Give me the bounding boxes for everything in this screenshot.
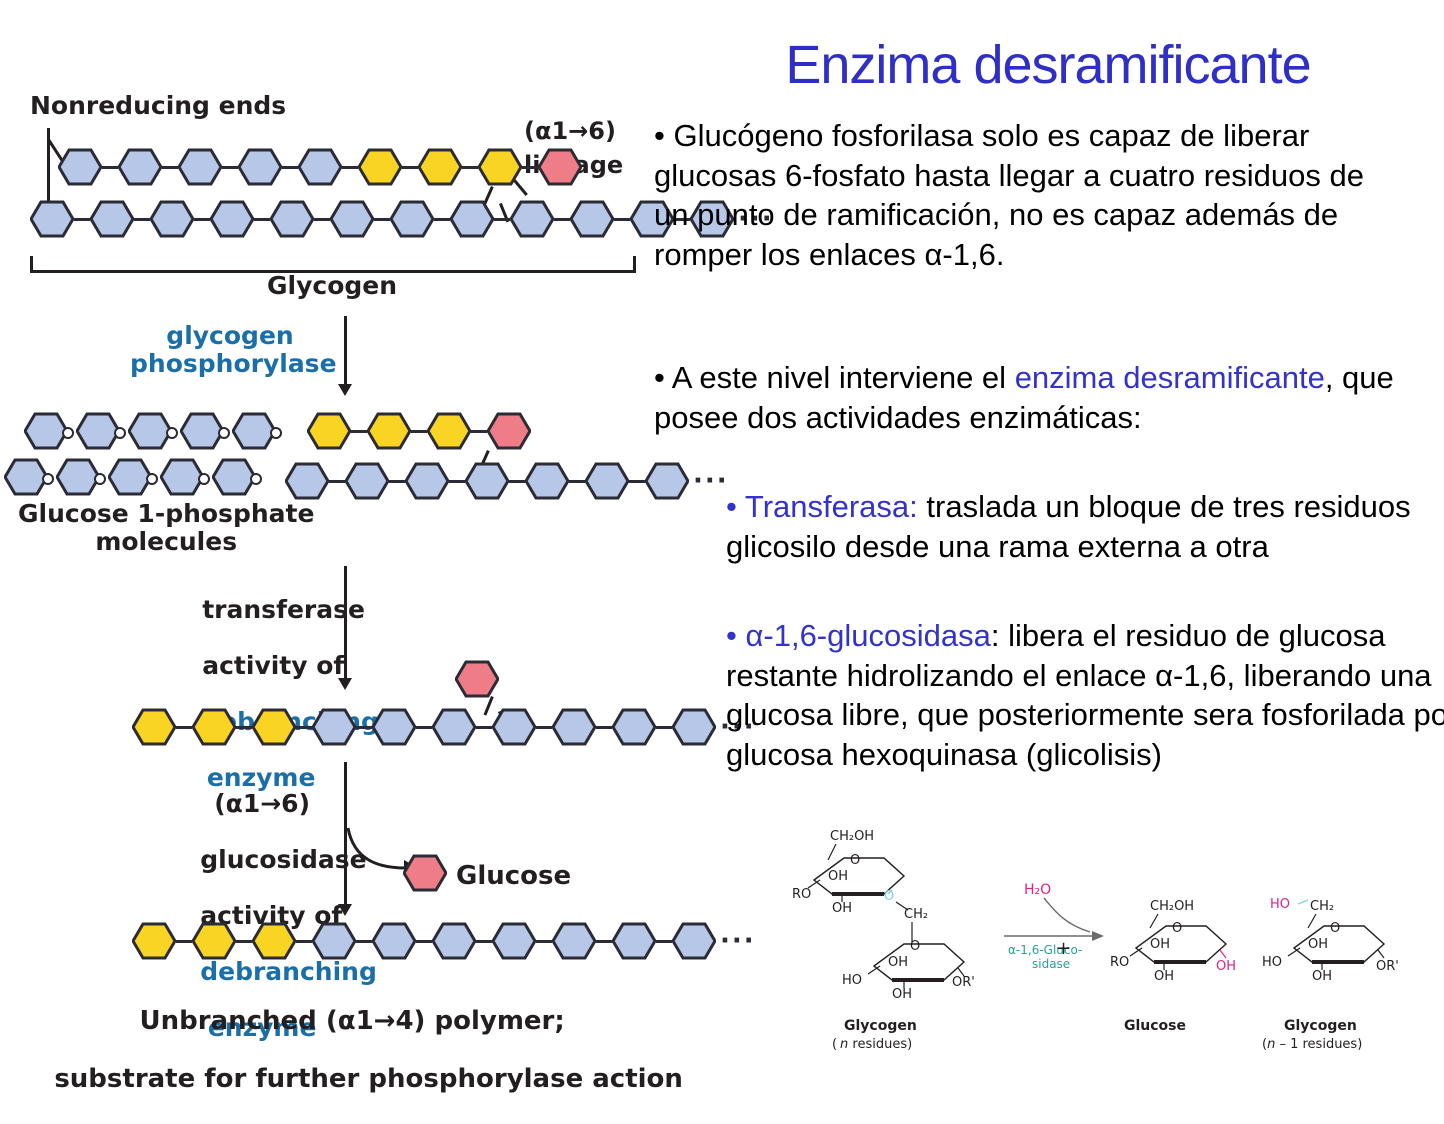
svg-text:O: O — [884, 889, 894, 904]
bond — [476, 940, 492, 943]
bond — [351, 430, 367, 433]
glucose-1-phosphate-unit — [76, 412, 128, 450]
hexagon-yellow — [132, 922, 176, 960]
bond — [596, 726, 612, 729]
glycogen-upper-ring: CH₂OH O OH RO OH O — [792, 829, 908, 916]
glucose-1-phosphate-unit — [160, 458, 212, 496]
bond — [554, 218, 570, 221]
hexagon-blue-branchpoint — [570, 200, 614, 238]
phosphate-circle — [146, 473, 158, 485]
svg-text:OR': OR' — [952, 975, 975, 990]
bullet-2-accent: enzima desramificante — [1015, 360, 1325, 395]
slide: Nonreducing ends (α1→6) linkage — [0, 0, 1444, 1080]
bond — [314, 218, 330, 221]
left-product-name: Glycogen — [844, 1018, 917, 1034]
bond — [614, 218, 630, 221]
bond — [476, 726, 492, 729]
bond — [134, 218, 150, 221]
bullet-2: • A este nivel interviene el enzima desr… — [654, 358, 1394, 437]
right-product-name: Glycogen — [1284, 1018, 1357, 1034]
bond — [176, 726, 192, 729]
svg-text:CH₂: CH₂ — [1310, 899, 1334, 914]
bond — [282, 166, 298, 169]
hexagon-blue — [465, 462, 509, 500]
bond — [236, 726, 252, 729]
hexagon-blue — [285, 462, 329, 500]
hexagon-blue — [372, 708, 416, 746]
hexagon-blue — [612, 708, 656, 746]
released-glucose-hexagon — [403, 854, 447, 892]
bond — [434, 218, 450, 221]
hexagon-yellow — [252, 922, 296, 960]
glucose-product-ring: CH₂OH O OH RO OH OH — [1110, 899, 1236, 984]
reaction-scheme-svg: CH₂OH O OH RO OH O CH₂ — [792, 818, 1442, 1080]
hexagon-blue — [30, 200, 74, 238]
svg-text:OH: OH — [1150, 937, 1170, 952]
svg-text:CH₂OH: CH₂OH — [1150, 899, 1194, 914]
bond — [236, 940, 252, 943]
bond — [194, 218, 210, 221]
hexagon-yellow — [192, 922, 236, 960]
unbranched-polymer-caption: Unbranched (α1→4) polymer; substrate for… — [0, 978, 650, 1124]
glycogen-phosphorylase-label: glycogenphosphorylase — [130, 322, 330, 378]
phosphate-circle — [218, 427, 230, 439]
glucose-1-phosphate-unit — [56, 458, 108, 496]
svg-text:CH₂OH: CH₂OH — [830, 829, 874, 844]
bond — [254, 218, 270, 221]
bond — [74, 218, 90, 221]
svg-text:OH: OH — [892, 987, 912, 1002]
bond — [389, 480, 405, 483]
alpha16-linkage-label-line1: (α1→6) — [524, 118, 616, 145]
bullet-1: • Glucógeno fosforilasa solo es capaz de… — [654, 116, 1394, 275]
phosphate-circle — [94, 473, 106, 485]
bond — [494, 218, 510, 221]
bond — [449, 480, 465, 483]
panel3-branch-hexagon — [455, 660, 499, 698]
hexagon-blue — [552, 922, 596, 960]
svg-text:O: O — [1330, 921, 1340, 936]
glucose-product-label: Glucose — [456, 862, 571, 891]
hexagon-blue — [405, 462, 449, 500]
sub-bullet-glucosidasa: • α-1,6-glucosidasa: libera el residuo d… — [654, 616, 1444, 775]
bond — [411, 430, 427, 433]
glucose-1-phosphate-unit — [180, 412, 232, 450]
bond — [162, 166, 178, 169]
bullet-2-pre: • A este nivel interviene el — [654, 360, 1015, 395]
svg-text:OH: OH — [1216, 959, 1236, 974]
hexagon-blue — [312, 708, 356, 746]
phosphate-circle — [114, 427, 126, 439]
bond — [356, 940, 372, 943]
sub-bullet-transferasa-accent: • Transferasa: — [726, 489, 918, 524]
glucose-1-phosphate-label: Glucose 1-phosphatemolecules — [18, 500, 314, 556]
mid-product-name: Glucose — [1124, 1018, 1186, 1034]
phosphate-circle — [250, 473, 262, 485]
reaction-arrow-2 — [344, 566, 347, 684]
hexagon-yellow — [358, 148, 402, 186]
svg-text:OH: OH — [828, 869, 848, 884]
bond — [176, 940, 192, 943]
hexagon-blue — [492, 922, 536, 960]
svg-text:+: + — [1056, 938, 1071, 959]
bond — [356, 726, 372, 729]
svg-text:RO: RO — [792, 887, 811, 902]
hexagon-yellow — [478, 148, 522, 186]
svg-text:OH: OH — [832, 901, 852, 916]
hexagon-blue — [312, 922, 356, 960]
hexagon-yellow — [192, 708, 236, 746]
hexagon-blue — [345, 462, 389, 500]
svg-text:OH: OH — [1312, 969, 1332, 984]
phosphate-circle — [166, 427, 178, 439]
hexagon-blue — [118, 148, 162, 186]
phosphate-circle — [198, 473, 210, 485]
svg-text:RO: RO — [1110, 955, 1129, 970]
glucose-1-phosphate-unit — [24, 412, 76, 450]
svg-text:O: O — [1172, 921, 1182, 936]
hexagon-yellow — [367, 412, 411, 450]
hexagon-blue — [330, 200, 374, 238]
svg-text:H₂O: H₂O — [1024, 882, 1051, 898]
hexagon-blue — [58, 148, 102, 186]
glycogen-degradation-figure: Nonreducing ends (α1→6) linkage — [0, 0, 660, 1080]
bond — [416, 726, 432, 729]
hexagon-blue — [432, 708, 476, 746]
hexagon-yellow — [307, 412, 351, 450]
hexagon-blue — [298, 148, 342, 186]
hexagon-blue — [372, 922, 416, 960]
glycogen-top-chain — [58, 148, 582, 186]
bond — [522, 166, 538, 169]
bond — [402, 166, 418, 169]
bond — [342, 166, 358, 169]
hexagon-blue — [492, 708, 536, 746]
reaction-arrow-1-head — [338, 384, 352, 396]
hexagon-pink — [487, 412, 531, 450]
phosphate-circle — [42, 473, 54, 485]
svg-text:HO: HO — [1270, 897, 1290, 912]
svg-text:OH: OH — [1154, 969, 1174, 984]
glucose-1-phosphate-row-1 — [24, 412, 284, 450]
bond — [416, 940, 432, 943]
phosphate-circle — [62, 427, 74, 439]
svg-text:O: O — [910, 939, 920, 954]
hexagon-blue — [210, 200, 254, 238]
glucose-1-phosphate-unit — [212, 458, 264, 496]
hexagon-yellow — [418, 148, 462, 186]
svg-text:O: O — [850, 853, 860, 868]
phosphate-circle — [270, 427, 282, 439]
hexagon-pink — [538, 148, 582, 186]
svg-text:sidase: sidase — [1032, 957, 1070, 971]
glucose-1-phosphate-unit — [4, 458, 56, 496]
bond — [102, 166, 118, 169]
glycogen-lower-ring: CH₂ O OH HO OH OR' — [842, 907, 975, 1002]
page-title: Enzima desramificante — [652, 34, 1444, 96]
hexagon-pink — [403, 854, 447, 892]
bond — [462, 166, 478, 169]
bond — [296, 726, 312, 729]
left-product-sub: n residues) — [840, 1037, 912, 1052]
sub-bullet-transferasa: • Transferasa: traslada un bloque de tre… — [654, 487, 1444, 566]
bond — [536, 726, 552, 729]
hexagon-blue-branchpoint — [552, 708, 596, 746]
content-panel: Enzima desramificante • Glucógeno fosfor… — [652, 0, 1444, 1080]
reaction-arrow-3-head — [338, 904, 352, 916]
hexagon-blue — [612, 922, 656, 960]
bond — [374, 218, 390, 221]
svg-text:OR': OR' — [1376, 959, 1399, 974]
hexagon-blue — [450, 200, 494, 238]
svg-text:(: ( — [832, 1037, 837, 1052]
hexagon-blue — [432, 922, 476, 960]
bond — [569, 480, 585, 483]
hexagon-blue — [270, 200, 314, 238]
hexagon-yellow — [427, 412, 471, 450]
hexagon-blue — [585, 462, 629, 500]
shortened-branch-chain — [307, 412, 531, 450]
right-product-sub: (n – 1 residues) — [1262, 1037, 1362, 1052]
svg-text:α-1,6-Gluco-: α-1,6-Gluco- — [1008, 943, 1082, 957]
sub-bullet-glucosidasa-accent: • α-1,6-glucosidasa — [726, 618, 991, 653]
hexagon-blue-branchpoint — [525, 462, 569, 500]
svg-text:OH: OH — [1308, 937, 1328, 952]
bond — [471, 430, 487, 433]
glucose-1-phosphate-unit — [108, 458, 160, 496]
bond — [296, 940, 312, 943]
svg-text:HO: HO — [1262, 955, 1282, 970]
bond — [329, 480, 345, 483]
hexagon-blue — [178, 148, 222, 186]
reaction-arrow-group: H₂O α-1,6-Gluco- sidase — [1004, 882, 1104, 971]
svg-text:OH: OH — [888, 955, 908, 970]
svg-text:CH₂: CH₂ — [904, 907, 928, 922]
bond — [536, 940, 552, 943]
nonreducing-ends-label: Nonreducing ends — [30, 92, 286, 120]
hexagon-blue — [510, 200, 554, 238]
reaction-arrow-1 — [344, 316, 347, 390]
svg-text:HO: HO — [842, 973, 862, 988]
alpha16-glucosidase-reaction-figure: CH₂OH O OH RO OH O CH₂ — [792, 818, 1442, 1080]
hexagon-blue — [90, 200, 134, 238]
hexagon-blue — [150, 200, 194, 238]
bond — [596, 940, 612, 943]
hexagon-yellow — [252, 708, 296, 746]
bond — [629, 480, 645, 483]
bond — [222, 166, 238, 169]
bond — [509, 480, 525, 483]
hexagon-blue — [390, 200, 434, 238]
glycogen-nminus1-ring: HO CH₂ O OH HO OH OR' — [1262, 897, 1399, 984]
glycogen-bracket-label: Glycogen — [30, 272, 634, 300]
hexagon-yellow — [132, 708, 176, 746]
hexagon-blue — [238, 148, 282, 186]
glucose-1-phosphate-unit — [128, 412, 180, 450]
hexagon-pink — [455, 660, 499, 698]
glucose-1-phosphate-row-2 — [4, 458, 264, 496]
reaction-arrow-2-head — [338, 678, 352, 690]
glucose-1-phosphate-unit — [232, 412, 284, 450]
